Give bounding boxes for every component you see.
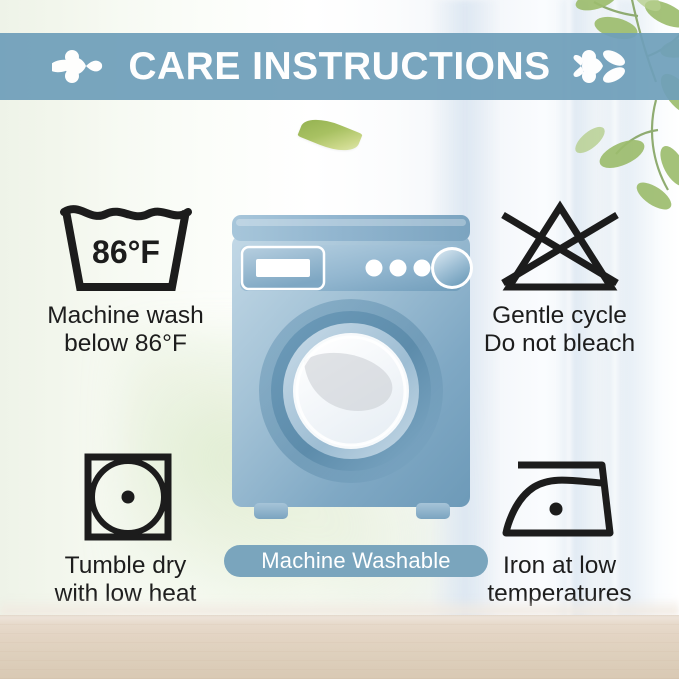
control-panel [240, 245, 473, 291]
care-caption-do-not-bleach: Gentle cycle Do not bleach [452, 302, 667, 358]
table-wood-grain [0, 615, 679, 679]
do-not-bleach-triangle-icon [452, 192, 667, 302]
care-item-do-not-bleach: Gentle cycle Do not bleach [452, 192, 667, 358]
fleur-de-lis-left-icon [52, 45, 106, 89]
control-knob [431, 247, 473, 289]
care-item-machine-wash: 86°F Machine wash below 86°F [18, 192, 233, 358]
wash-tub-icon: 86°F [18, 192, 233, 302]
fleur-de-lis-right-icon [573, 45, 627, 89]
care-instructions-infographic: CARE INSTRUCTIONS 86°F Machine wash belo… [0, 0, 679, 679]
tumble-dry-low-icon [18, 442, 233, 552]
plant-leaves-top-right [560, 0, 679, 210]
wash-temperature-value: 86°F [92, 234, 160, 270]
table-edge [0, 599, 679, 615]
care-item-iron: Iron at low temperatures [452, 442, 667, 608]
iron-low-temperature-icon [452, 442, 667, 552]
detergent-drawer [242, 247, 324, 289]
page-title: CARE INSTRUCTIONS [128, 45, 550, 89]
machine-washable-label: Machine Washable [261, 548, 450, 574]
washing-machine-illustration [226, 205, 476, 535]
header-banner: CARE INSTRUCTIONS [0, 33, 679, 100]
indicator-lights [366, 260, 431, 277]
washer-door [259, 299, 443, 483]
care-caption-machine-wash: Machine wash below 86°F [18, 302, 233, 358]
care-item-tumble-dry: Tumble dry with low heat [18, 442, 233, 608]
machine-washable-badge: Machine Washable [224, 545, 488, 577]
